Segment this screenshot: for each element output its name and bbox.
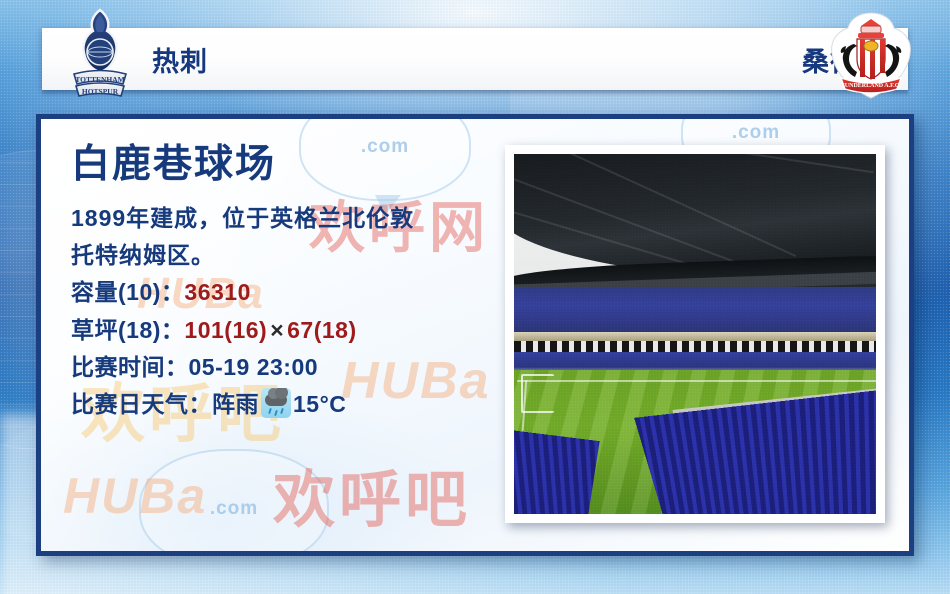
svg-text:HOTSPUR: HOTSPUR — [82, 87, 119, 96]
stadium-description-line-2: 托特纳姆区。 — [71, 237, 491, 274]
tottenham-hotspur-crest: TOTTENHAM HOTSPUR — [62, 6, 138, 106]
pitch-dimension-separator: × — [267, 317, 287, 343]
weather-label: 比赛日天气： — [71, 391, 212, 417]
match-time-value: 05-19 23:00 — [189, 354, 319, 380]
pitch-width-value: 67(18) — [287, 317, 356, 343]
home-team-name: 热刺 — [152, 40, 208, 79]
svg-text:SUNDERLAND A.F.C.: SUNDERLAND A.F.C. — [841, 83, 901, 89]
stadium-description-line-1: 1899年建成，位于英格兰北伦敦 — [71, 200, 491, 237]
capacity-label: 容量(10)： — [71, 279, 184, 305]
pitch-label: 草坪(18)： — [71, 317, 184, 343]
stadium-details: 白鹿巷球场 1899年建成，位于英格兰北伦敦 托特纳姆区。 容量(10)：363… — [71, 145, 491, 423]
match-time-row: 比赛时间：05-19 23:00 — [71, 349, 491, 386]
rain-shower-icon — [261, 388, 291, 418]
stadium-title: 白鹿巷球场 — [71, 145, 491, 186]
watermark-brand-bottom: 欢呼吧 — [273, 449, 471, 539]
photo-grain-overlay — [514, 154, 876, 514]
svg-text:TOTTENHAM: TOTTENHAM — [75, 75, 124, 84]
weather-condition: 阵雨 — [212, 391, 259, 417]
weather-temperature: 15°C — [293, 391, 346, 417]
watermark-com-text-top-right: .com — [732, 122, 780, 144]
watermark-bubble-bottom: .com — [139, 449, 329, 556]
stadium-photo-frame — [505, 145, 885, 523]
watermark-huba-bottom: HUBa — [63, 467, 207, 525]
watermark-com-text-bottom: .com — [210, 498, 258, 520]
pitch-length-value: 101(16) — [184, 317, 267, 343]
capacity-value: 36310 — [184, 279, 250, 305]
match-time-label: 比赛时间： — [71, 354, 189, 380]
capacity-row: 容量(10)：36310 — [71, 274, 491, 311]
sunderland-afc-crest: SUNDERLAND A.F.C. — [828, 10, 914, 102]
pitch-row: 草坪(18)：101(16)×67(18) — [71, 312, 491, 349]
match-weather-row: 比赛日天气：阵雨15°C — [71, 386, 491, 423]
match-header-bar: 热刺 桑德兰 — [42, 28, 908, 90]
stadium-info-panel: .com .com .com HUBa HUBa HUBa 欢呼网 欢呼吧 欢呼… — [36, 114, 914, 556]
stadium-photo — [514, 154, 876, 514]
